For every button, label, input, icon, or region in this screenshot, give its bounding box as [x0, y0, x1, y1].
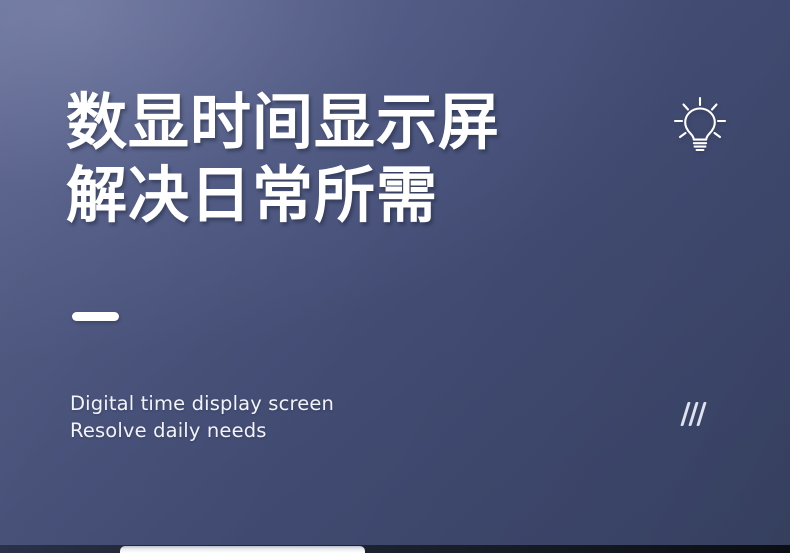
- slash-3: [696, 402, 706, 426]
- divider-dash: [72, 312, 119, 321]
- page-subtitle: Digital time display screen Resolve dail…: [70, 390, 334, 444]
- lightbulb-icon: [671, 96, 729, 156]
- headline-line-2: 解决日常所需: [66, 159, 500, 232]
- slash-marks-icon: [683, 402, 717, 426]
- subtitle-line-1: Digital time display screen: [70, 390, 334, 417]
- device-top-edge: [120, 546, 365, 553]
- headline-line-1: 数显时间显示屏: [66, 86, 500, 159]
- bottom-edge-strip: [0, 545, 790, 553]
- subtitle-line-2: Resolve daily needs: [70, 417, 334, 444]
- page-title: 数显时间显示屏 解决日常所需: [66, 86, 500, 232]
- promo-banner: 数显时间显示屏 解决日常所需 Digital time display scre…: [0, 0, 790, 553]
